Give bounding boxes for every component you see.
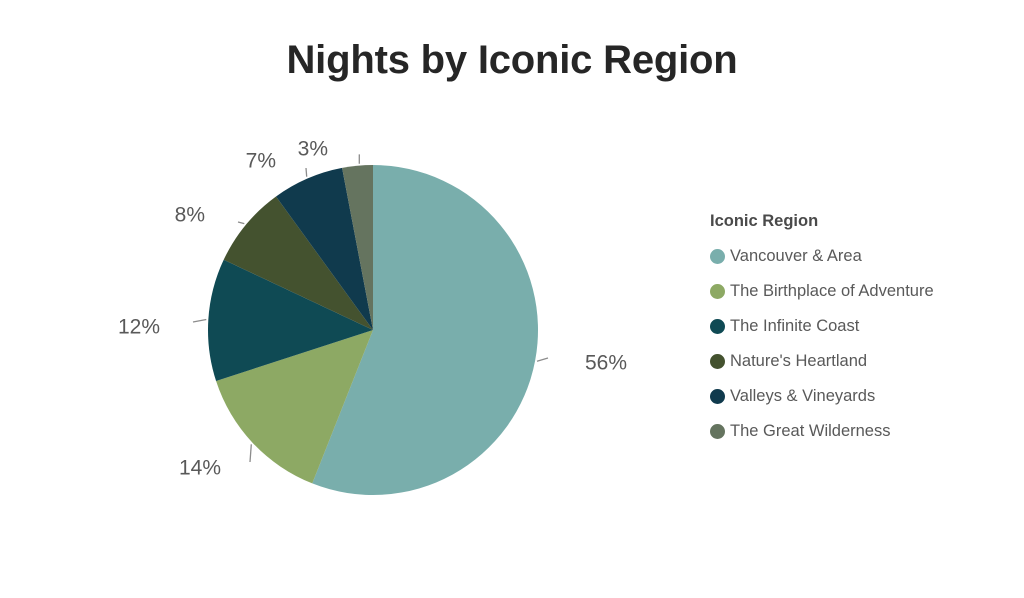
- legend-item-label: Nature's Heartland: [730, 344, 867, 379]
- legend-item[interactable]: Vancouver & Area: [710, 239, 1010, 274]
- legend-item-label: Vancouver & Area: [730, 239, 862, 274]
- legend-swatch-icon: [710, 354, 725, 369]
- legend-item[interactable]: Nature's Heartland: [710, 344, 1010, 379]
- pie-percent-label: 14%: [179, 457, 221, 480]
- pie-leader-line: [537, 358, 548, 361]
- legend-title: Iconic Region: [710, 212, 1010, 230]
- pie-leader-line: [359, 155, 360, 164]
- legend-swatch-icon: [710, 284, 725, 299]
- legend-swatch-icon: [710, 249, 725, 264]
- legend: Iconic Region Vancouver & AreaThe Birthp…: [710, 212, 1010, 449]
- legend-item[interactable]: Valleys & Vineyards: [710, 379, 1010, 414]
- pie-percent-label: 12%: [118, 316, 160, 339]
- pie-leader-line: [306, 168, 307, 177]
- legend-item-label: The Birthplace of Adventure: [730, 274, 934, 309]
- pie-leader-line: [250, 444, 251, 462]
- pie-leader-line: [238, 222, 244, 224]
- legend-item-label: The Infinite Coast: [730, 309, 859, 344]
- legend-swatch-icon: [710, 424, 725, 439]
- pie-percent-label: 8%: [175, 204, 205, 227]
- legend-swatch-icon: [710, 319, 725, 334]
- legend-item[interactable]: The Birthplace of Adventure: [710, 274, 1010, 309]
- pie-chart-figure: Nights by Iconic Region 56%14%12%8%7%3% …: [0, 0, 1024, 598]
- pie-percent-label: 56%: [585, 352, 627, 375]
- pie-slice-group: [208, 165, 538, 495]
- legend-item-label: The Great Wilderness: [730, 414, 890, 449]
- legend-item[interactable]: The Infinite Coast: [710, 309, 1010, 344]
- legend-item-label: Valleys & Vineyards: [730, 379, 875, 414]
- pie-percent-label: 7%: [246, 150, 276, 173]
- legend-item[interactable]: The Great Wilderness: [710, 414, 1010, 449]
- legend-item-list: Vancouver & AreaThe Birthplace of Advent…: [710, 239, 1010, 449]
- pie-leader-line: [193, 320, 206, 323]
- legend-swatch-icon: [710, 389, 725, 404]
- pie-percent-label: 3%: [298, 138, 328, 161]
